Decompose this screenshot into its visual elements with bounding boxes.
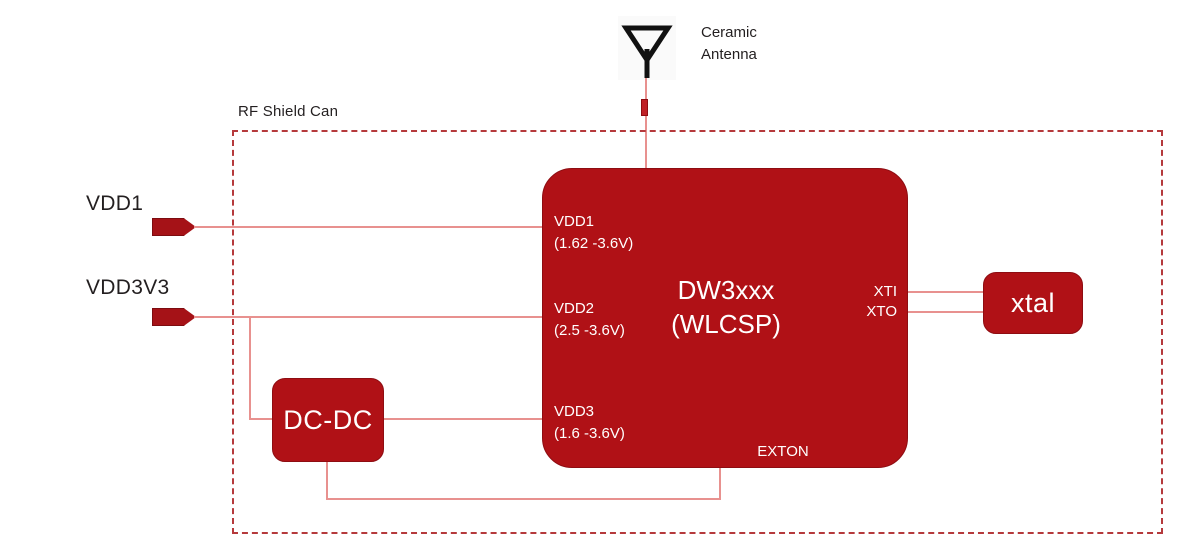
supply-label-vdd1: VDD1 (86, 192, 143, 216)
dcdc-block[interactable]: DC-DC (272, 378, 384, 462)
antenna-icon (618, 16, 676, 80)
wire-dcdc-output-to-vdd3 (383, 418, 544, 420)
wire-exton-down (719, 466, 721, 500)
xtal-block[interactable]: xtal (983, 272, 1083, 334)
chip-pin-xti: XTI (809, 281, 897, 303)
port-arrow-vdd3v3 (152, 308, 196, 326)
wire-vdd3v3-rail (194, 316, 544, 318)
supply-label-vdd3v3: VDD3V3 (86, 276, 170, 300)
chip-pin-vdd1: VDD1 (1.62 -3.6V) (554, 211, 633, 255)
wire-dcdc-input (249, 418, 274, 420)
chip-pin-vdd3: VDD3 (1.6 -3.6V) (554, 401, 625, 445)
antenna-caption: Ceramic Antenna (701, 22, 757, 66)
wire-exton-up-to-dcdc (326, 460, 328, 500)
rf-shield-label: RF Shield Can (238, 103, 338, 120)
wire-vdd1-rail (194, 226, 544, 228)
dcdc-block-label: DC-DC (283, 405, 373, 436)
chip-pin-exton: EXTON (663, 441, 903, 463)
chip-pin-xto: XTO (809, 301, 897, 323)
xtal-block-label: xtal (1011, 288, 1055, 319)
chip-pin-vdd2: VDD2 (2.5 -3.6V) (554, 298, 625, 342)
chip-block-dw3xxx[interactable]: DW3xxx (WLCSP) VDD1 (1.62 -3.6V) VDD2 (2… (542, 168, 908, 468)
wire-xto (906, 311, 984, 313)
antenna-symbol-svg (618, 16, 676, 80)
wire-xti (906, 291, 984, 293)
wire-vdd3v3-branch-down (249, 316, 251, 420)
diagram-canvas: Ceramic Antenna RF Shield Can VDD1 VDD3V… (0, 0, 1200, 550)
port-arrow-vdd1 (152, 218, 196, 236)
wire-exton-horizontal (326, 498, 721, 500)
antenna-matching-component (641, 99, 648, 116)
